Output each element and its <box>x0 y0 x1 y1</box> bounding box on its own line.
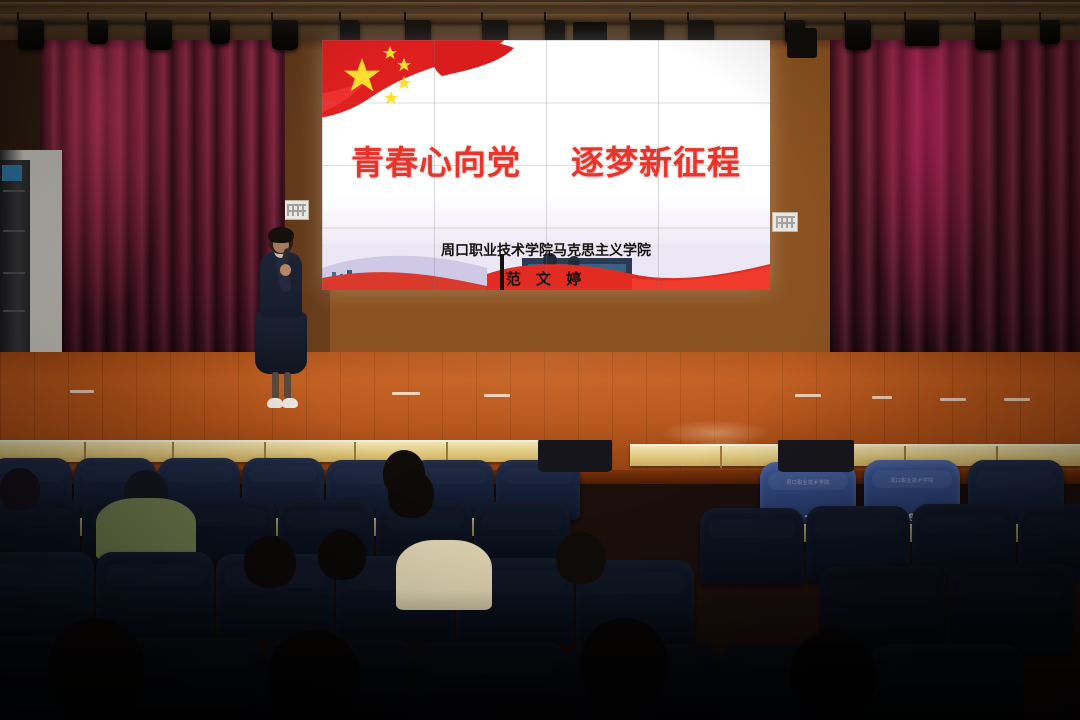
floor-tape-mark <box>940 398 966 401</box>
presenter-dress <box>255 312 307 374</box>
floor-tape-mark <box>484 394 510 397</box>
left-equipment-rack <box>0 160 30 370</box>
seat-logo: 学生活动中心 <box>416 668 566 676</box>
led-presenter-name: 范 文 婷 <box>322 268 770 289</box>
left-wall-notice-sign <box>283 200 309 220</box>
audience-person-head <box>556 532 606 584</box>
auditorium-seat[interactable] <box>872 644 1022 720</box>
chinese-flag-graphic <box>322 40 528 132</box>
floor-tape-mark <box>70 390 94 393</box>
audience-person-head-foreground <box>268 630 360 720</box>
led-display-screen: 青春心向党 逐梦新征程 周口职业技术学院马克思主义学院 范 文 婷 <box>322 40 770 290</box>
presenter-figure <box>252 228 310 410</box>
presenter-hair <box>268 227 294 243</box>
right-wall-notice-sign <box>772 212 798 232</box>
sign-text-lines <box>287 204 306 216</box>
auditorium-photo: 青春心向党 逐梦新征程 周口职业技术学院马克思主义学院 范 文 婷 <box>0 0 1080 720</box>
presenter-hand <box>280 264 291 276</box>
presenter-leg <box>272 372 279 400</box>
speaker-box <box>787 28 817 58</box>
sign-text-lines <box>776 216 795 228</box>
presenter-shoe <box>282 398 298 408</box>
floor-tape-mark <box>392 392 420 395</box>
truss-rail-upper <box>0 2 1080 7</box>
curtain-left-highlight <box>52 18 172 318</box>
seat-logo: 周口职业技术学院 <box>864 478 960 486</box>
audience-person-body <box>538 440 612 472</box>
audience-person-head-foreground <box>790 630 876 718</box>
auditorium-seat[interactable]: 学生活动中心 <box>416 642 566 720</box>
audience-person-head <box>388 470 434 518</box>
audience-person-head-foreground <box>580 618 668 708</box>
audience-person-body-green <box>96 498 196 560</box>
auditorium-seat[interactable] <box>948 564 1074 656</box>
audience-person-body-light <box>396 540 492 610</box>
seat-logo: 周口职业技术学院 <box>760 480 856 488</box>
audience-person-head <box>0 468 40 510</box>
left-monitor-screen <box>2 165 22 181</box>
audience-person-body <box>778 440 854 472</box>
audience-person-head <box>244 536 296 588</box>
led-subtitle-organization: 周口职业技术学院马克思主义学院 <box>322 240 770 260</box>
audience-person-head-foreground <box>48 618 144 714</box>
presenter-leg <box>284 372 291 400</box>
floor-tape-mark <box>872 396 892 399</box>
floor-tape-mark <box>1004 398 1030 401</box>
curtain-right-highlight <box>862 14 992 344</box>
led-main-title: 青春心向党 逐梦新征程 <box>322 136 770 184</box>
audience-person-head <box>318 530 366 580</box>
audience-seating-area: 周口职业技术学院 179 周口职业技术学院 180 <box>0 440 1080 720</box>
presenter-shoe <box>267 398 283 408</box>
auditorium-seat[interactable] <box>700 508 804 584</box>
floor-tape-mark <box>795 394 821 397</box>
